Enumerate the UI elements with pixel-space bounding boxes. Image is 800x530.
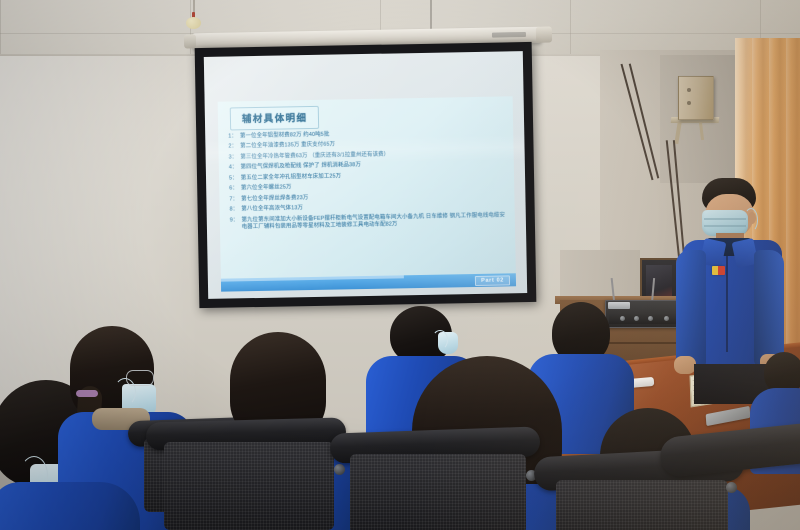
- fire-sprinkler-icon: [190, 12, 197, 25]
- slide-title-box: 辅材具体明细: [230, 106, 320, 131]
- attendee-jacket: [0, 482, 140, 530]
- mask-fold: [704, 218, 746, 220]
- case-end-cap-left: [184, 34, 196, 48]
- chair-back-mesh: [556, 480, 728, 530]
- mask-ear-loop: [432, 330, 448, 350]
- eyeglasses-icon: [126, 370, 154, 386]
- slide-item-number: 4：: [229, 165, 238, 172]
- wall-recess-panel: [560, 250, 640, 302]
- case-end-cap-right: [536, 26, 552, 42]
- attendee-front-left-shoulder: [0, 452, 140, 530]
- jacket-zipper: [726, 256, 728, 352]
- mask-fold: [704, 225, 746, 227]
- wall-speaker: [678, 76, 714, 120]
- amplifier-knob[interactable]: [664, 316, 669, 321]
- slide-list-item: 9： 第九位第东间准加大小新设备FEP摆杆柜新电气设置配电箱车间大小备九机 日车…: [230, 212, 509, 232]
- case-label: [492, 32, 526, 38]
- slide-title: 辅材具体明细: [242, 110, 308, 125]
- slide-item-number: 2：: [228, 144, 237, 151]
- projected-slide: 辅材具体明细 1： 第一位全年铝型材费82万 约40吨5批 2： 第二位全年油漆…: [218, 96, 516, 291]
- slide-item-text: 第九位第东间准加大小新设备FEP摆杆柜新电气设置配电箱车间大小备九机 日车维修 …: [241, 212, 509, 231]
- chair-back-mesh: [350, 454, 526, 530]
- slide-item-number: 9：: [230, 217, 239, 232]
- projector-screen[interactable]: 辅材具体明细 1： 第一位全年铝型材费82万 约40吨5批 2： 第二位全年油漆…: [195, 42, 537, 308]
- chair-back-mesh: [164, 442, 334, 530]
- amplifier-knob[interactable]: [634, 316, 639, 321]
- company-pin-badge: [712, 266, 725, 275]
- presenter-arm-left: [676, 250, 706, 368]
- conference-room-photo: 辅材具体明细 1： 第一位全年铝型材费82万 约40吨5批 2： 第二位全年油漆…: [0, 0, 800, 530]
- chair-adjust-knob[interactable]: [726, 482, 737, 493]
- slide-item-number: 7：: [229, 196, 238, 203]
- slide-item-number: 5：: [229, 175, 238, 182]
- slide-item-number: 3：: [229, 154, 238, 161]
- slide-bullet-list: 1： 第一位全年铝型材费82万 约40吨5批 2： 第二位全年油漆费135万 重…: [228, 128, 509, 235]
- slide-item-number: 6：: [229, 186, 238, 193]
- slide-part-badge: Part 02: [475, 275, 510, 286]
- presenter-hand-left: [674, 356, 696, 374]
- chair-adjust-knob[interactable]: [334, 464, 345, 475]
- slide-item-number: 8：: [230, 207, 239, 214]
- hair-tie: [76, 390, 98, 397]
- slide-item-number: 1：: [228, 133, 237, 140]
- amplifier-knob[interactable]: [648, 316, 653, 321]
- presenter-arm-right: [754, 250, 784, 366]
